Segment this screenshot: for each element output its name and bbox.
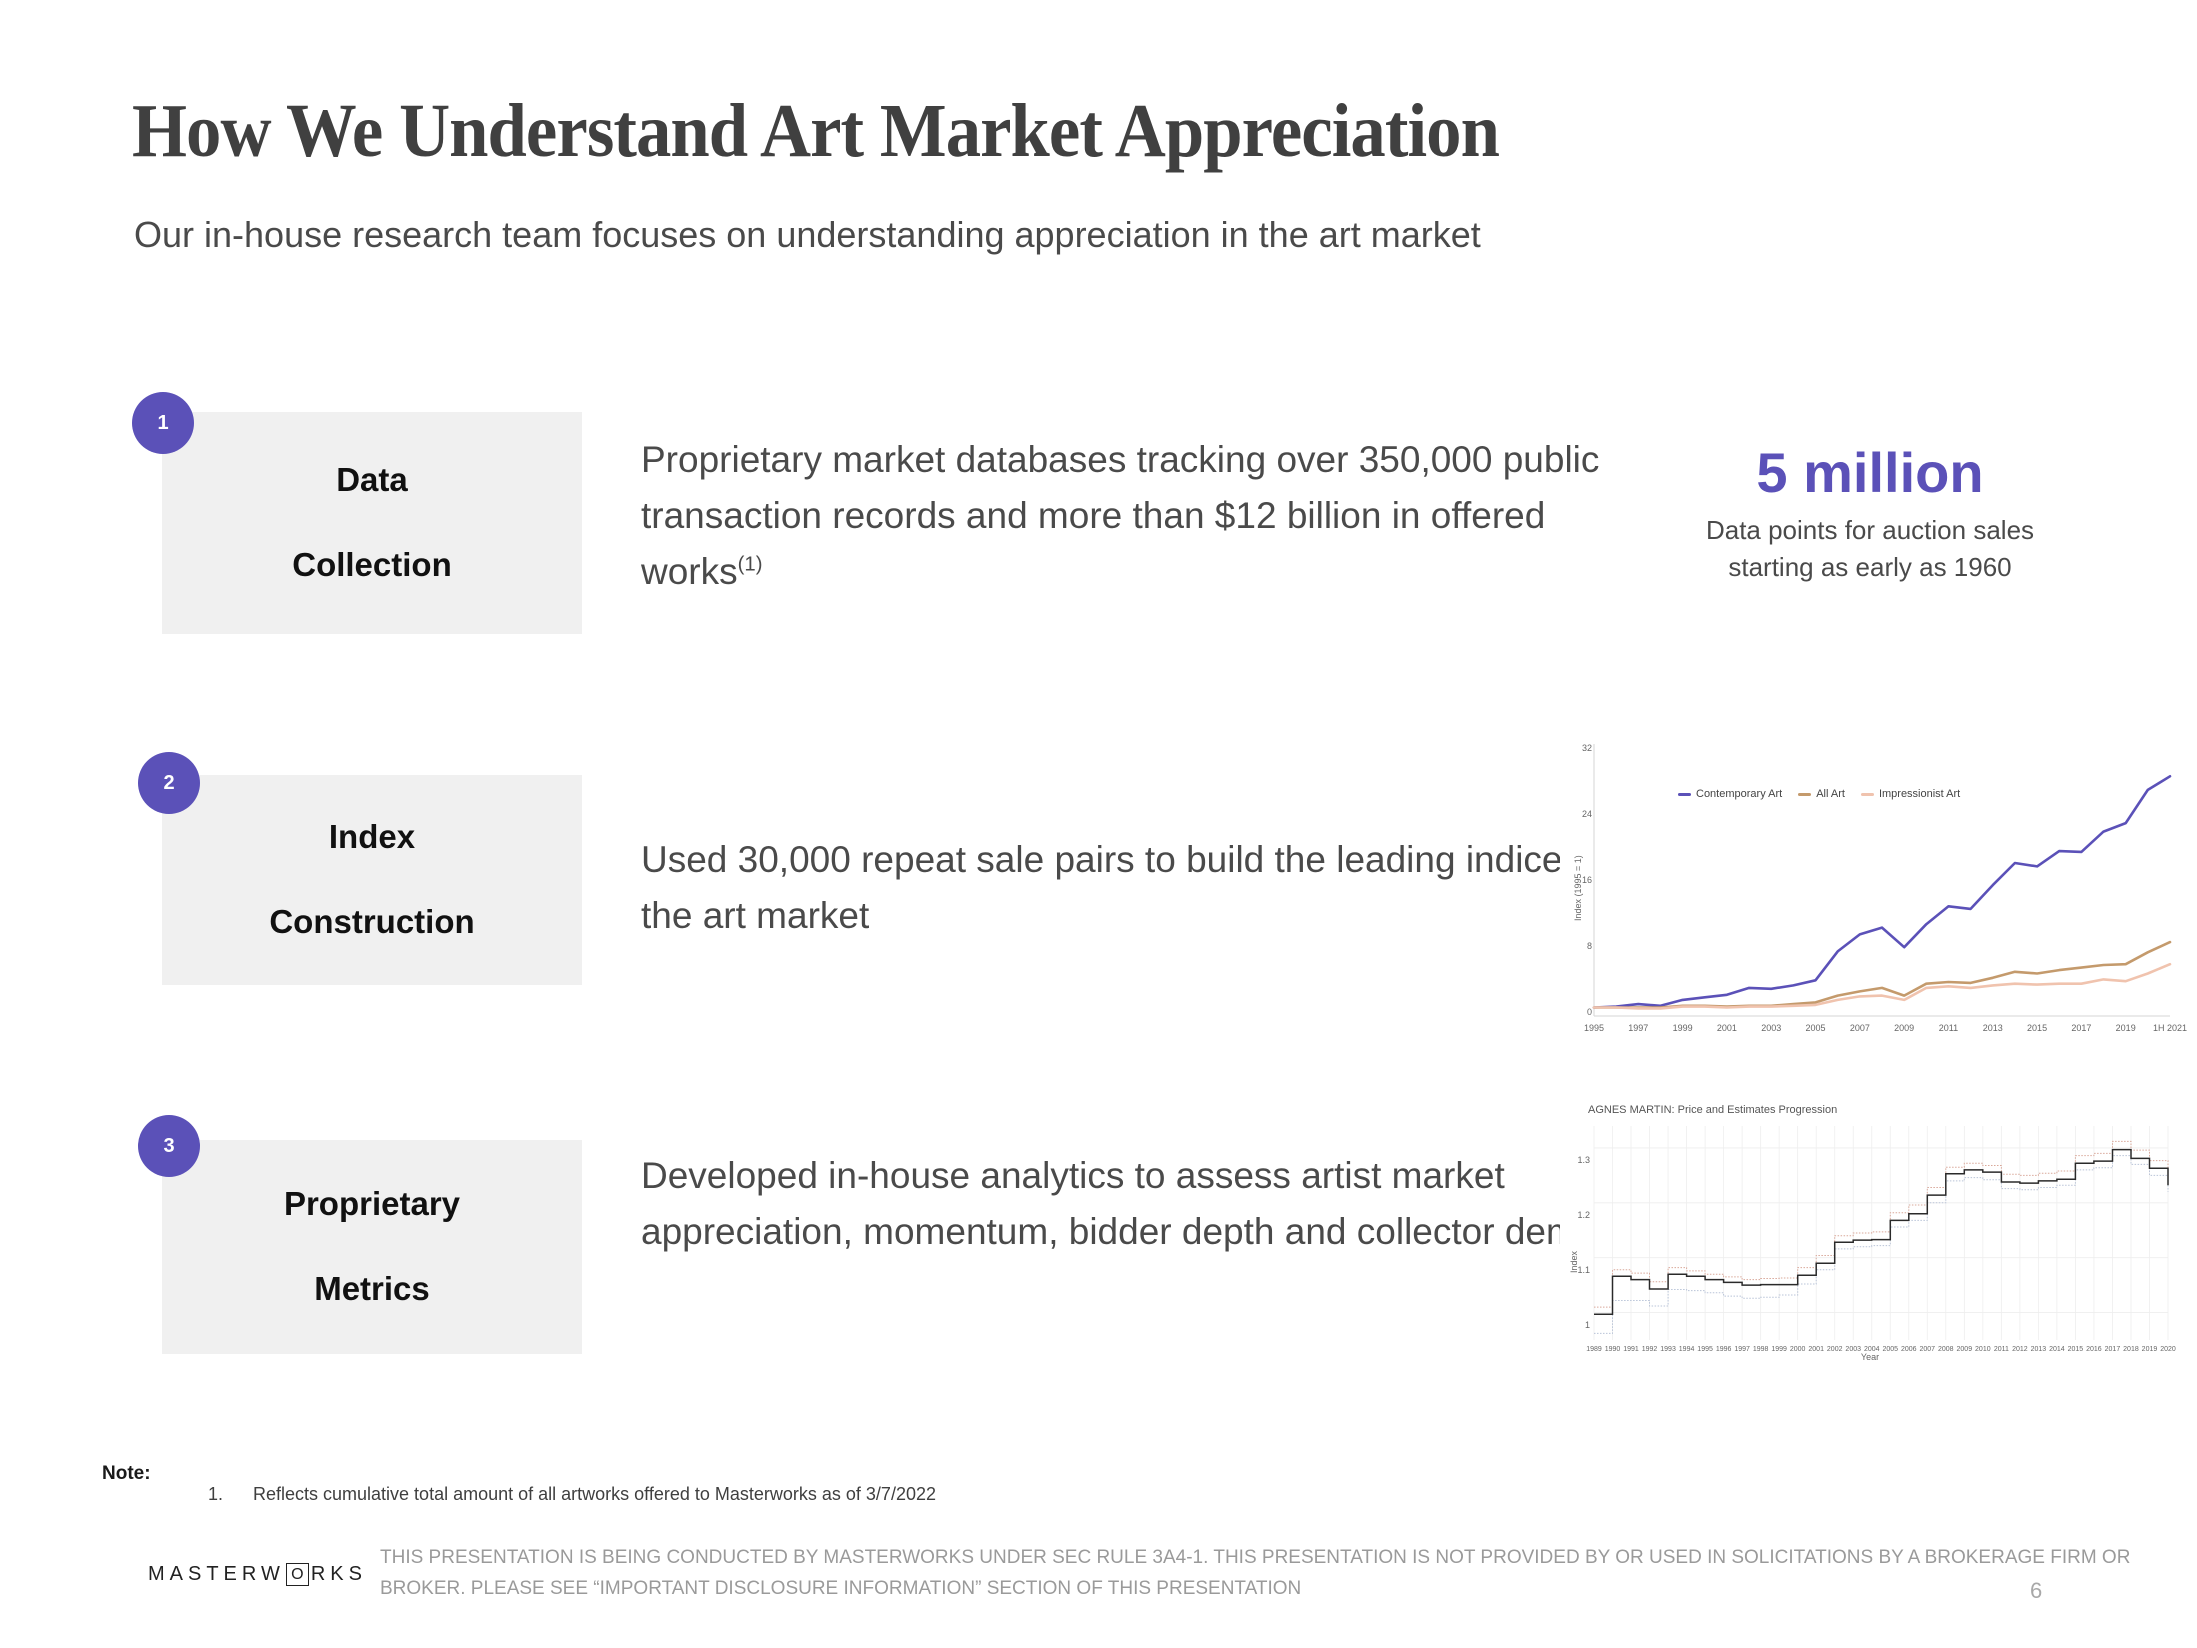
step-label-line2-3: Metrics (284, 1268, 460, 1311)
step-body-text-2: Used 30,000 repeat sale pairs to build t… (641, 839, 1620, 936)
chart2-xtick: 2013 (2031, 1346, 2047, 1353)
logo-text-part2: RKS (311, 1563, 367, 1586)
step-label-line1-2: Index (269, 816, 474, 859)
stat-description-line1: Data points for auction sales (1706, 515, 2034, 545)
stat-description-line2: starting as early as 1960 (1728, 552, 2011, 582)
chart2-xtick: 1989 (1586, 1346, 1602, 1353)
chart1-xtick: 2013 (1983, 1023, 2003, 1033)
chart2-xtick: 1995 (1697, 1346, 1713, 1353)
step-label-line2-1: Collection (292, 544, 452, 587)
chart1-xtick: 2001 (1717, 1023, 1737, 1033)
chart1-xtick: 2005 (1806, 1023, 1826, 1033)
art-index-chart: Index (1995 = 1) 32 24 16 8 0 Contempora… (1560, 726, 2180, 1046)
chart2-xtick: 1997 (1734, 1346, 1750, 1353)
step-body-2: Used 30,000 repeat sale pairs to build t… (641, 832, 1626, 944)
chart1-xtick: 2009 (1894, 1023, 1914, 1033)
chart1-xtick: 2019 (2116, 1023, 2136, 1033)
disclaimer-text: THIS PRESENTATION IS BEING CONDUCTED BY … (380, 1543, 2170, 1605)
chart1-plot (1560, 726, 2180, 1046)
chart2-xtick: 2020 (2160, 1346, 2176, 1353)
agnes-martin-chart: AGNES MARTIN: Price and Estimates Progre… (1560, 1098, 2180, 1388)
chart2-xtick: 2003 (1845, 1346, 1861, 1353)
chart2-xtick: 2015 (2068, 1346, 2084, 1353)
chart1-xtick: 1H 2021 (2153, 1023, 2187, 1033)
chart2-xtick: 2007 (1919, 1346, 1935, 1353)
slide: How We Understand Art Market Appreciatio… (0, 0, 2197, 1648)
chart2-xtick: 2016 (2086, 1346, 2102, 1353)
chart2-xtick: 2019 (2142, 1346, 2158, 1353)
page-subtitle: Our in-house research team focuses on un… (134, 214, 1481, 256)
step-body-1: Proprietary market databases tracking ov… (641, 432, 1626, 601)
chart1-xtick: 1999 (1673, 1023, 1693, 1033)
step-label-box-1: Data Collection (162, 412, 582, 634)
step-body-superscript-1: (1) (738, 554, 763, 576)
step-label-box-3: Proprietary Metrics (162, 1140, 582, 1354)
chart2-xtick: 1991 (1623, 1346, 1639, 1353)
step-badge-1: 1 (132, 392, 194, 454)
stat-value: 5 million (1660, 440, 2080, 505)
chart2-xtick: 2001 (1808, 1346, 1824, 1353)
page-title: How We Understand Art Market Appreciatio… (132, 88, 1499, 175)
logo-boxed-o-icon: O (286, 1563, 309, 1586)
step-label-line1-1: Data (292, 459, 452, 502)
chart1-xtick: 2017 (2071, 1023, 2091, 1033)
note-label: Note: (102, 1463, 151, 1485)
chart2-xtick: 2005 (1882, 1346, 1898, 1353)
chart2-xtick: 1999 (1771, 1346, 1787, 1353)
step-label-box-2: Index Construction (162, 775, 582, 985)
chart2-xtick: 1998 (1753, 1346, 1769, 1353)
masterworks-logo: MASTERWORKS (148, 1563, 367, 1586)
chart2-xtick: 2011 (1994, 1346, 2009, 1353)
step-body-3: Developed in-house analytics to assess a… (641, 1148, 1641, 1260)
chart2-xtick: 2018 (2123, 1346, 2139, 1353)
step-label-line2-2: Construction (269, 901, 474, 944)
chart1-xtick: 1997 (1628, 1023, 1648, 1033)
chart2-plot (1560, 1098, 2180, 1388)
chart2-xtick: 2008 (1938, 1346, 1954, 1353)
step-label-line1-3: Proprietary (284, 1183, 460, 1226)
chart2-xtick: 1990 (1605, 1346, 1621, 1353)
chart2-xtick: 2002 (1827, 1346, 1843, 1353)
stat-description: Data points for auction sales starting a… (1660, 512, 2080, 586)
chart2-xtick: 2012 (2012, 1346, 2028, 1353)
chart2-xtick: 2000 (1790, 1346, 1806, 1353)
logo-text-part1: MASTERW (148, 1563, 285, 1586)
chart2-xtick: 2006 (1901, 1346, 1917, 1353)
note-number: 1. (208, 1484, 223, 1505)
stat-block: 5 million Data points for auction sales … (1660, 440, 2080, 620)
chart2-xtick: 1993 (1660, 1346, 1676, 1353)
chart2-xtick: 1992 (1642, 1346, 1658, 1353)
step-badge-2: 2 (138, 752, 200, 814)
chart2-xtick: 2004 (1864, 1346, 1880, 1353)
chart2-xtick: 2014 (2049, 1346, 2065, 1353)
chart2-xtick: 2010 (1975, 1346, 1991, 1353)
page-number: 6 (2030, 1578, 2042, 1604)
step-badge-3: 3 (138, 1115, 200, 1177)
step-body-text-3: Developed in-house analytics to assess a… (641, 1155, 1639, 1252)
chart1-xtick: 2011 (1939, 1023, 1958, 1033)
chart2-xtick: 1996 (1716, 1346, 1732, 1353)
chart2-xtick: 1994 (1679, 1346, 1695, 1353)
chart2-xtick: 2009 (1957, 1346, 1973, 1353)
note-text: Reflects cumulative total amount of all … (253, 1484, 936, 1505)
chart1-xtick: 2007 (1850, 1023, 1870, 1033)
chart2-xtick: 2017 (2105, 1346, 2121, 1353)
chart1-xtick: 1995 (1584, 1023, 1604, 1033)
chart1-xtick: 2015 (2027, 1023, 2047, 1033)
step-body-text-1: Proprietary market databases tracking ov… (641, 439, 1599, 592)
chart1-xtick: 2003 (1761, 1023, 1781, 1033)
